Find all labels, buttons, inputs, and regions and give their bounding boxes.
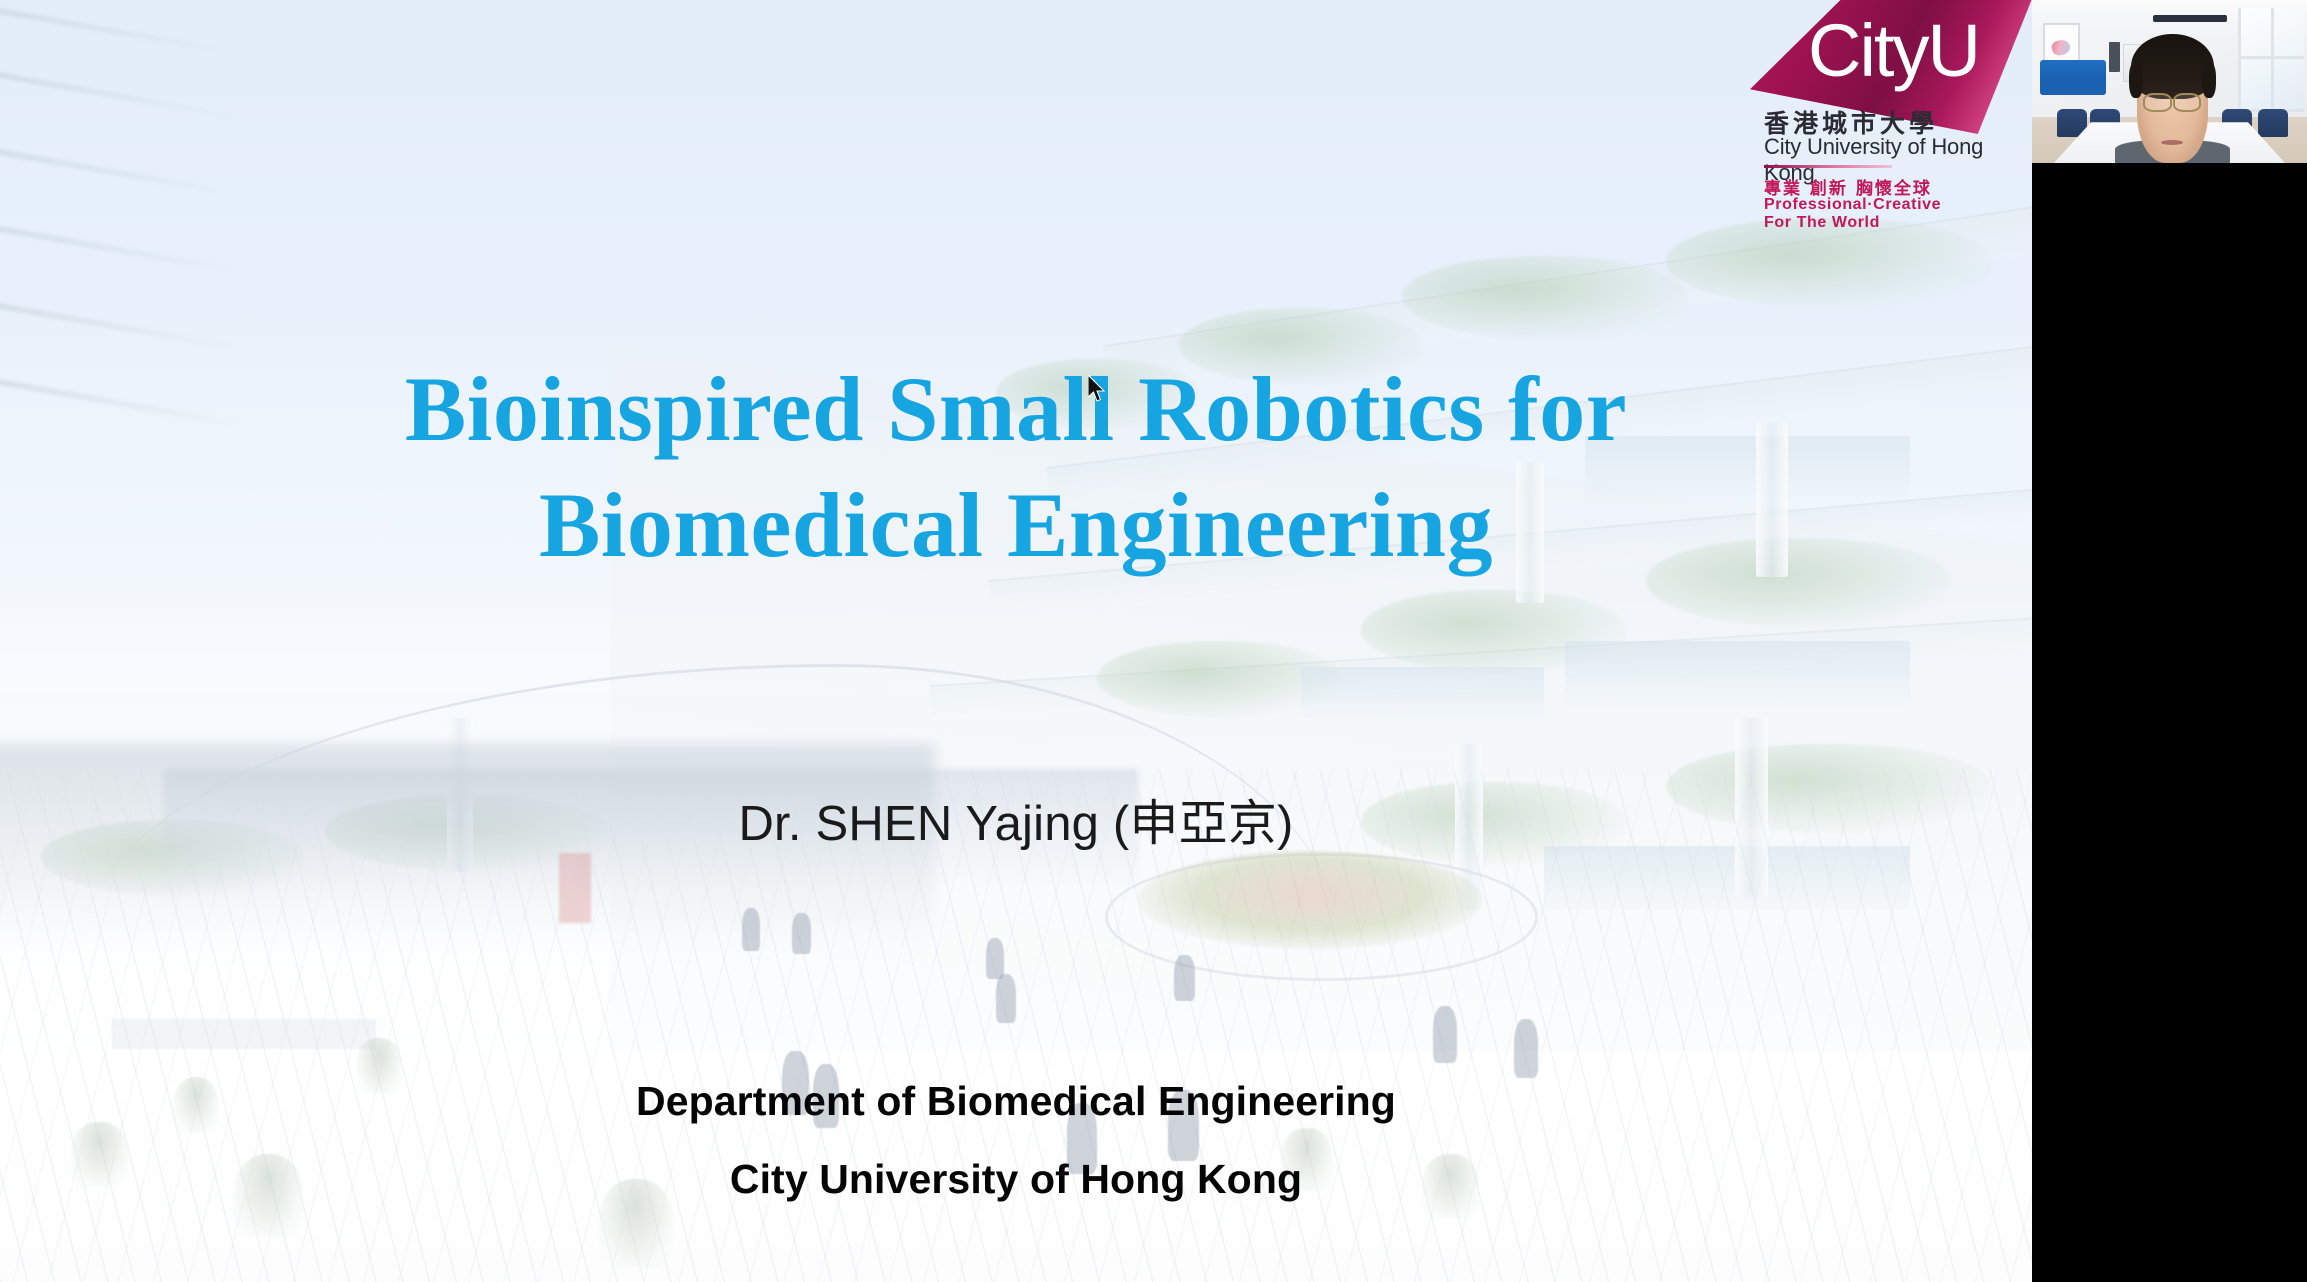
- slide-title: Bioinspired Small Robotics for Biomedica…: [0, 352, 2032, 584]
- room-window: [2238, 8, 2304, 112]
- cityu-motto-english-1: Professional·Creative: [1764, 196, 1941, 214]
- presentation-slide[interactable]: Bioinspired Small Robotics for Biomedica…: [0, 0, 2032, 1282]
- floor-lamp: [2109, 42, 2120, 71]
- cityu-motto-english-2: For The World: [1764, 214, 1880, 232]
- empty-black-area: [2032, 163, 2307, 1282]
- office-chair: [2258, 109, 2288, 137]
- pedestrian: [986, 938, 1004, 979]
- presenter-glasses-icon: [2143, 93, 2201, 108]
- presenter-name: Dr. SHEN Yajing (申亞京): [0, 784, 2032, 855]
- pedestrian: [742, 908, 760, 952]
- flowerbed: [1138, 851, 1483, 948]
- affiliation-university: City University of Hong Kong: [0, 1156, 2032, 1203]
- pedestrian: [1514, 1019, 1538, 1078]
- cityu-logo: CityU 香港城市大學 City University of Hong Kon…: [1722, 0, 2022, 250]
- cityu-wordmark: CityU: [1808, 14, 1979, 88]
- pedestrian: [792, 913, 810, 954]
- screen-share-window: Bioinspired Small Robotics for Biomedica…: [0, 0, 2307, 1282]
- ceiling-light-fixture: [2153, 15, 2227, 22]
- building-window-band: [1565, 641, 1910, 705]
- affiliation-department: Department of Biomedical Engineering: [0, 1078, 2032, 1125]
- cityu-divider: [1764, 165, 1892, 168]
- presenter-video-tile[interactable]: [2032, 0, 2307, 163]
- presenter-hair: [2131, 34, 2214, 99]
- pedestrian: [996, 974, 1016, 1023]
- pedestrian: [1174, 955, 1194, 1001]
- blue-sofa: [2040, 60, 2106, 94]
- pedestrian: [1433, 1006, 1457, 1062]
- building-window-band: [1301, 667, 1545, 718]
